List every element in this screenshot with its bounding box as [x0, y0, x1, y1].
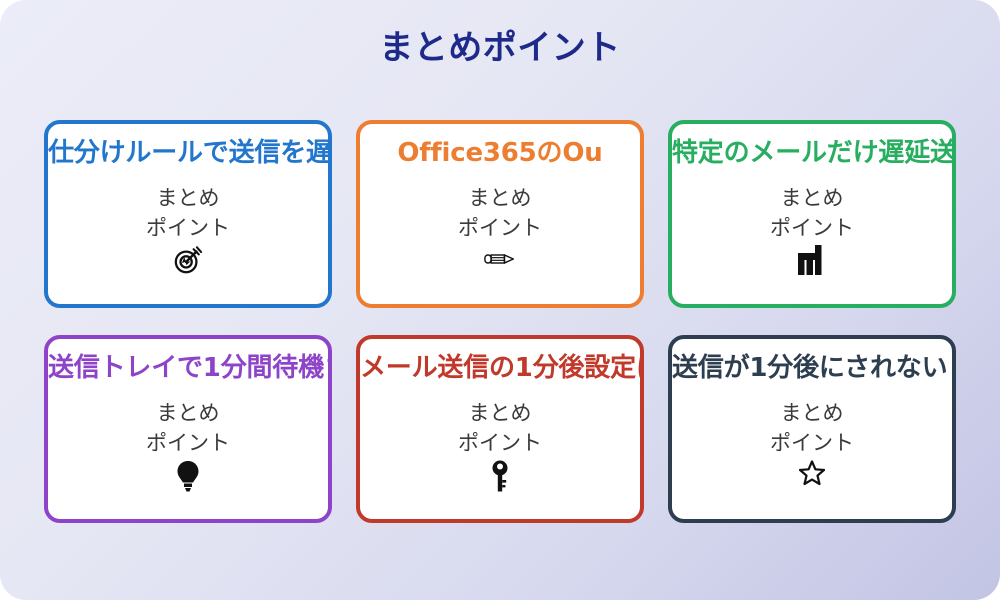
summary-points-slide: まとめポイント 仕分けルールで送信を遅ら まとめ ポイント Office365の…	[0, 0, 1000, 600]
card-body: まとめ ポイント	[146, 399, 230, 459]
dart-target-icon	[173, 245, 203, 280]
star-icon	[799, 460, 825, 491]
key-icon	[490, 460, 510, 497]
card-title: 特定のメールだけ遅延送信	[672, 138, 952, 170]
card-title: 送信が1分後にされないト	[672, 353, 952, 385]
card-title: 仕分けルールで送信を遅ら	[48, 138, 328, 170]
card-body: まとめ ポイント	[146, 184, 230, 244]
summary-card[interactable]: メール送信の1分後設定に まとめ ポイント	[356, 335, 644, 523]
card-body: まとめ ポイント	[458, 399, 542, 459]
card-body: まとめ ポイント	[770, 184, 854, 244]
summary-card-grid: 仕分けルールで送信を遅ら まとめ ポイント Office365のOu まとめ ポ…	[44, 120, 956, 523]
summary-card[interactable]: 仕分けルールで送信を遅ら まとめ ポイント	[44, 120, 332, 308]
card-body: まとめ ポイント	[770, 399, 854, 459]
card-body: まとめ ポイント	[458, 184, 542, 244]
summary-card[interactable]: Office365のOu まとめ ポイント	[356, 120, 644, 308]
card-title: メール送信の1分後設定に	[360, 353, 640, 385]
bar-chart-icon	[798, 245, 826, 280]
card-title: Office365のOu	[360, 138, 640, 170]
pencil-icon	[484, 245, 516, 273]
page-title: まとめポイント	[0, 28, 1000, 69]
card-title: 送信トレイで1分間待機さ	[48, 353, 328, 385]
summary-card[interactable]: 送信が1分後にされないト まとめ ポイント	[668, 335, 956, 523]
lightbulb-icon	[176, 460, 200, 497]
summary-card[interactable]: 特定のメールだけ遅延送信 まとめ ポイント	[668, 120, 956, 308]
summary-card[interactable]: 送信トレイで1分間待機さ まとめ ポイント	[44, 335, 332, 523]
